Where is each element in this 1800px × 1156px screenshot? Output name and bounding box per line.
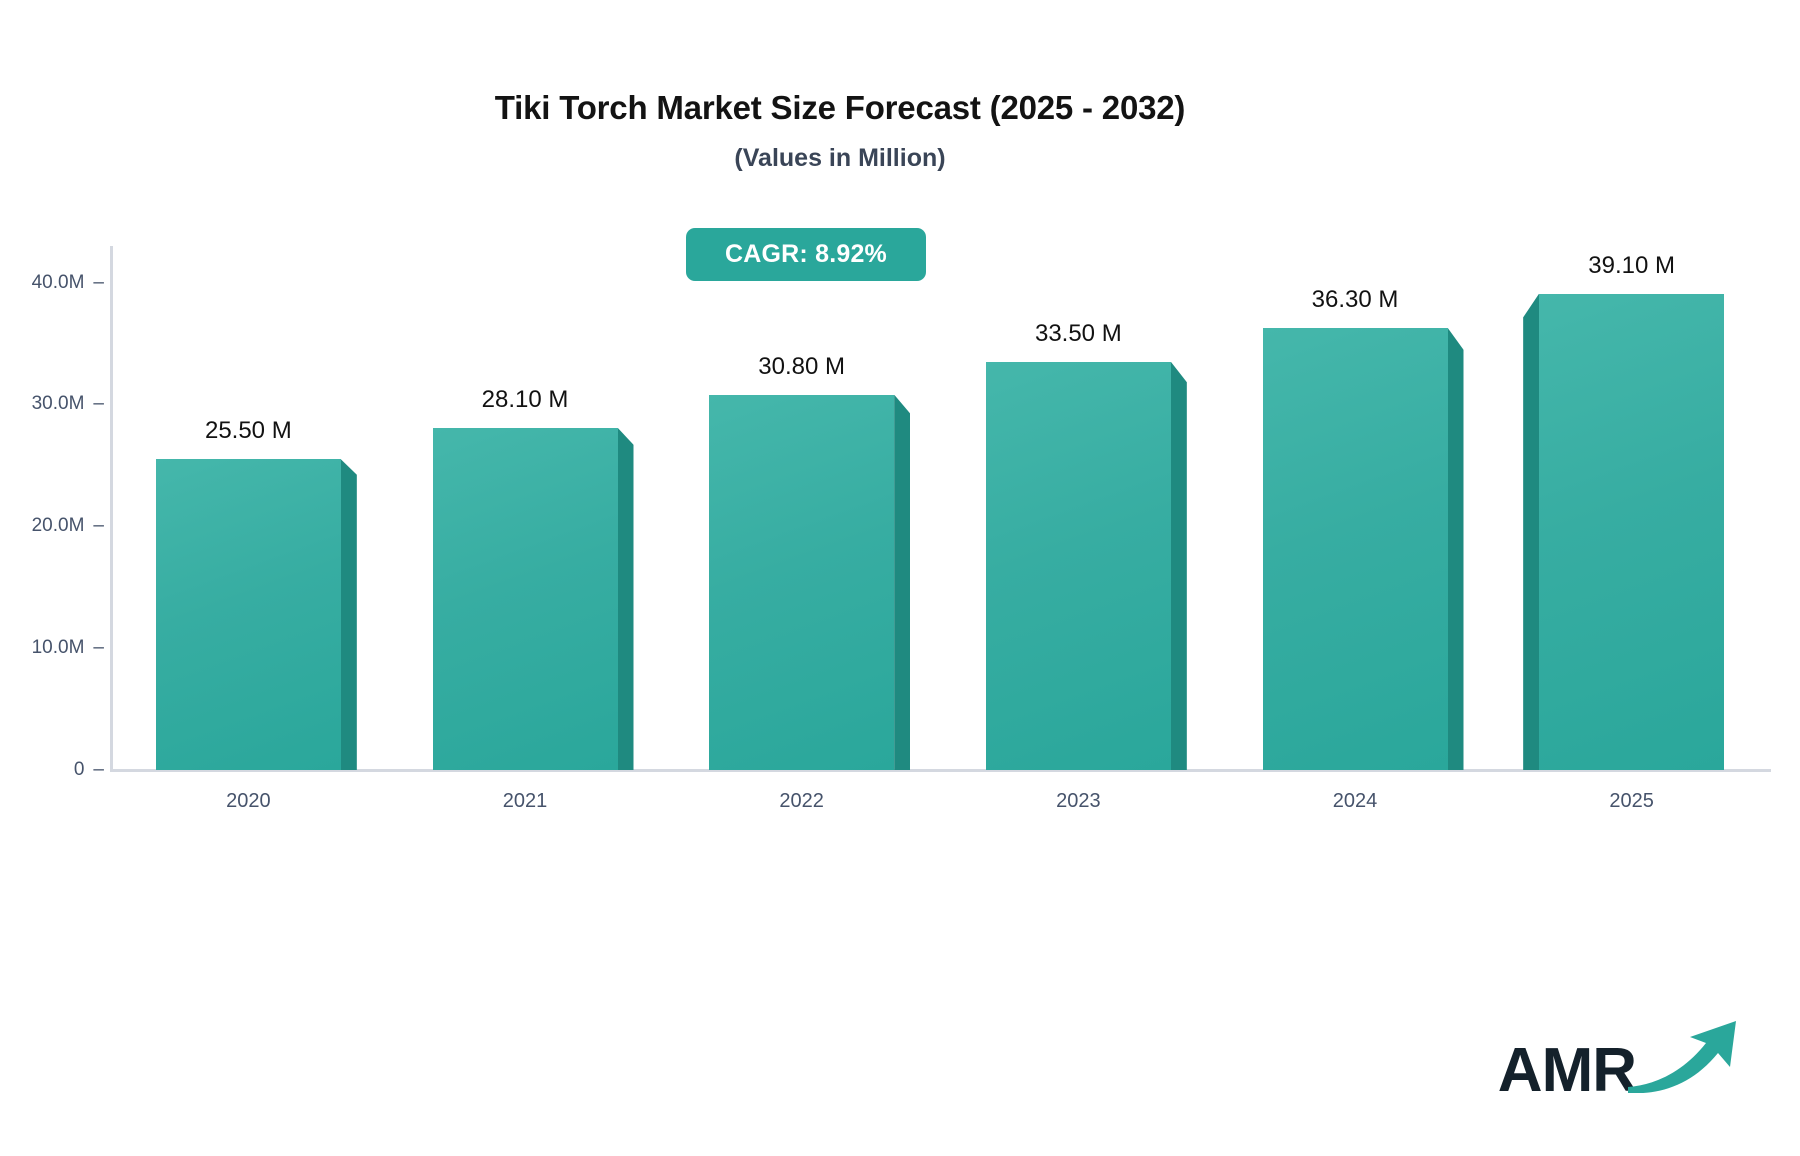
bar-face [156,459,341,770]
amr-logo-text: AMR [1498,1040,1636,1102]
x-axis-tick-label: 2020 [156,790,341,813]
bar-2025[interactable]: 39.10 M [1539,294,1724,770]
bar-side-face [618,428,634,770]
bar-value-label: 36.30 M [1312,286,1399,314]
bar-2021[interactable]: 28.10 M [433,428,618,770]
chart-subtitle: (Values in Million) [0,144,1680,173]
y-axis-tick-label: 40.0M– [0,272,104,294]
x-axis-tick-label: 2022 [709,790,894,813]
amr-logo: AMR [1498,1015,1742,1102]
cagr-badge-label: CAGR: 8.92% [725,240,887,269]
x-axis-tick-label: 2025 [1539,790,1724,813]
bar-side-face [1448,328,1464,770]
bar-face [433,428,618,770]
plot-area: 25.50 M28.10 M30.80 M33.50 M36.30 M39.10… [110,246,1770,770]
y-axis-tick-label: 0– [0,759,104,781]
bar-value-label: 30.80 M [758,353,845,381]
bar-2023[interactable]: 33.50 M [986,362,1171,770]
bar-face [1263,328,1448,770]
rising-arrow-icon [1622,1015,1742,1098]
page-title: Tiki Torch Market Size Forecast (2025 - … [0,88,1680,128]
bar-2022[interactable]: 30.80 M [709,395,894,770]
bar-side-face [341,459,357,770]
y-axis-tick-label: 10.0M– [0,637,104,659]
x-axis-tick-label: 2021 [433,790,618,813]
bar-face [1539,294,1724,770]
bar-value-label: 25.50 M [205,417,292,445]
bar-2020[interactable]: 25.50 M [156,459,341,770]
x-axis-tick-label: 2023 [986,790,1171,813]
bar-2024[interactable]: 36.30 M [1263,328,1448,770]
bar-face [709,395,894,770]
bar-value-label: 28.10 M [482,386,569,414]
chart-canvas: Tiki Torch Market Size Forecast (2025 - … [0,0,1800,1156]
bar-value-label: 33.50 M [1035,320,1122,348]
y-axis-tick-label: 30.0M– [0,393,104,415]
bar-face [986,362,1171,770]
cagr-badge: CAGR: 8.92% [686,228,926,281]
bar-side-face [894,395,910,770]
x-axis-tick-label: 2024 [1263,790,1448,813]
title-block: Tiki Torch Market Size Forecast (2025 - … [0,88,1680,173]
y-axis-tick-label: 20.0M– [0,515,104,537]
bar-side-face [1523,294,1539,770]
bar-side-face [1171,362,1187,770]
bar-value-label: 39.10 M [1588,252,1675,280]
